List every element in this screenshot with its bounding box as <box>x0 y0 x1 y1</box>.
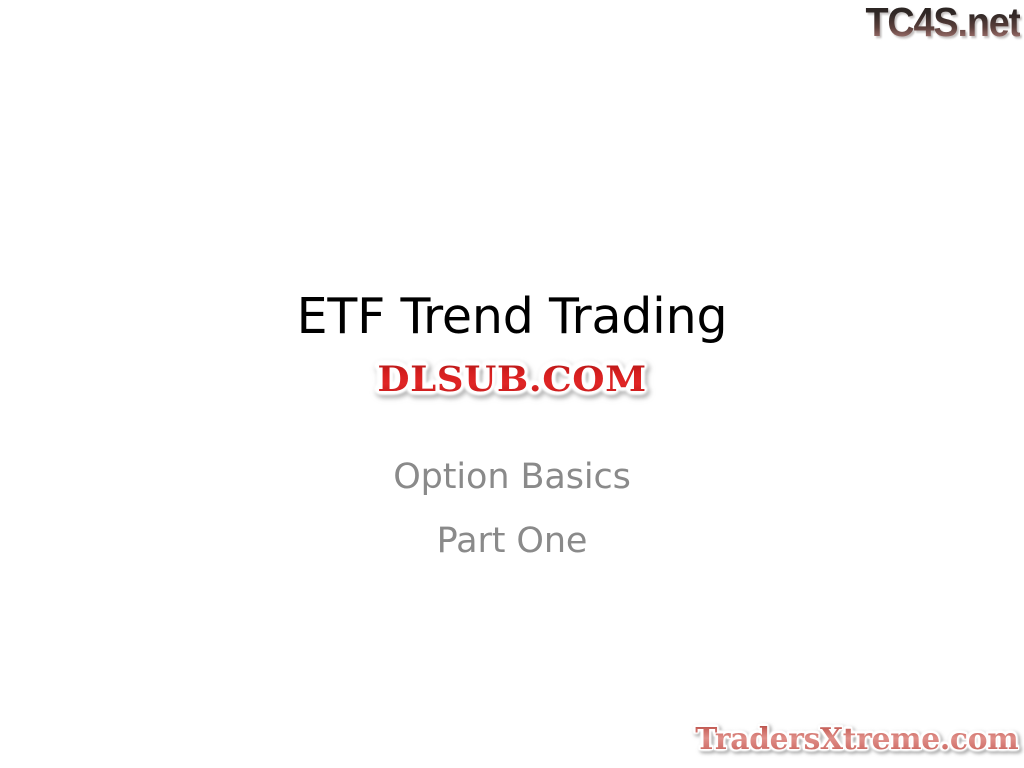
subtitle-line-2: Part One <box>0 509 1024 573</box>
subtitle-block: Option Basics Part One <box>0 445 1024 573</box>
subtitle-line-1: Option Basics <box>0 445 1024 509</box>
watermark-tradersxtreme: TradersXtreme.com <box>695 722 1018 758</box>
slide-title: ETF Trend Trading <box>0 288 1024 346</box>
watermark-tc4s: TC4S.net <box>865 2 1020 43</box>
title-block: ETF Trend Trading <box>0 288 1024 346</box>
watermark-dlsub: DLSUB.COM <box>0 360 1024 400</box>
presentation-slide: TC4S.net ETF Trend Trading DLSUB.COM Opt… <box>0 0 1024 768</box>
watermark-dlsub-text: DLSUB.COM <box>377 360 646 400</box>
